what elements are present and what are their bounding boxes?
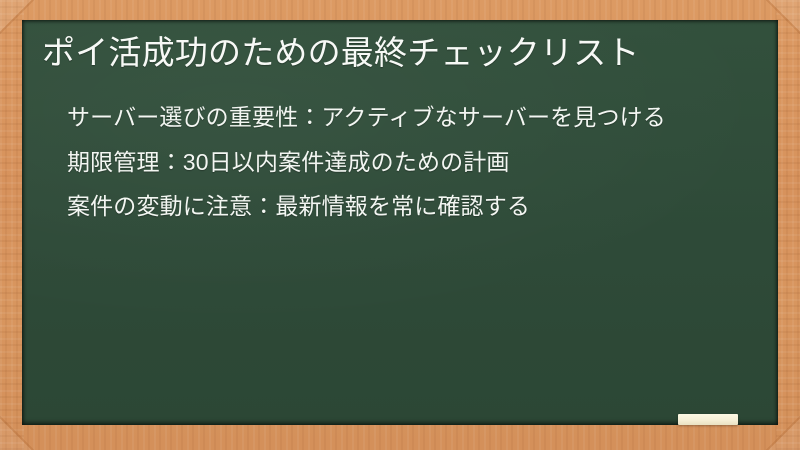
board-title: ポイ活成功のための最終チェックリスト (32, 32, 756, 75)
checklist: サーバー選びの重要性：アクティブなサーバーを見つける 期限管理：30日以内案件達… (32, 101, 756, 223)
chalkboard-content: ポイ活成功のための最終チェックリスト サーバー選びの重要性：アクティブなサーバー… (22, 20, 778, 425)
checklist-item: 期限管理：30日以内案件達成のための計画 (67, 146, 742, 179)
frame-stile-right (776, 0, 800, 450)
chalk-stick-icon (678, 414, 738, 425)
frame-stile-left (0, 0, 24, 450)
checklist-item: 案件の変動に注意：最新情報を常に確認する (67, 190, 742, 223)
chalkboard-slide: ポイ活成功のための最終チェックリスト サーバー選びの重要性：アクティブなサーバー… (0, 0, 800, 450)
chalkboard-surface: ポイ活成功のための最終チェックリスト サーバー選びの重要性：アクティブなサーバー… (22, 20, 778, 425)
checklist-item: サーバー選びの重要性：アクティブなサーバーを見つける (67, 101, 742, 134)
